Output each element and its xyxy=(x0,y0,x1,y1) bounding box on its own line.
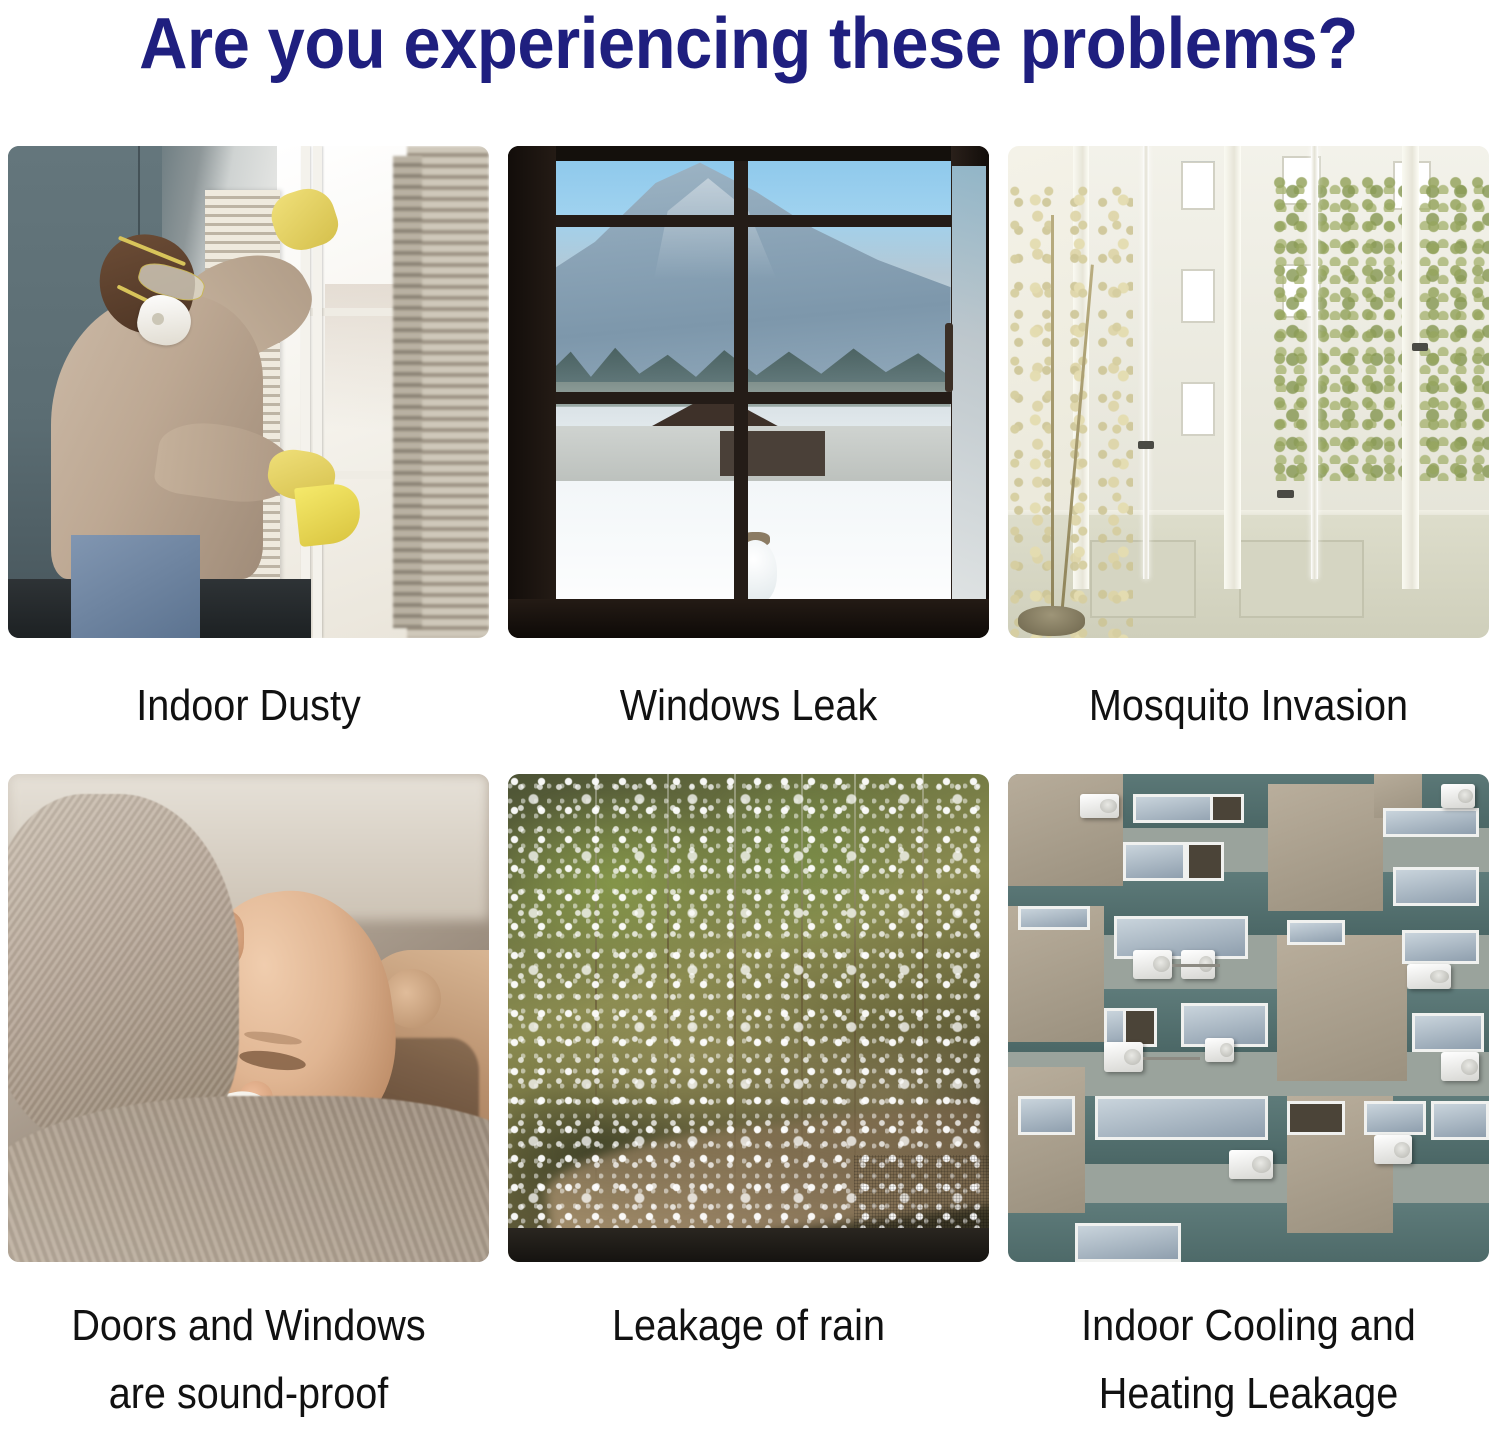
caption-cooling-heating-leakage: Indoor Cooling and Heating Leakage xyxy=(1032,1262,1465,1428)
page-title: Are you experiencing these problems? xyxy=(52,2,1444,86)
photo-apartment-ac-units xyxy=(1008,774,1489,1262)
grid-cell-cooling-heating-leakage[interactable]: Indoor Cooling and Heating Leakage xyxy=(1008,774,1489,1428)
caption-mosquito-invasion: Mosquito Invasion xyxy=(1032,638,1465,740)
caption-windows-leak: Windows Leak xyxy=(532,638,965,740)
problem-grid: Indoor Dusty xyxy=(8,146,1490,1428)
photo-sleeping-baby xyxy=(8,774,489,1262)
photo-indoor-dusty xyxy=(8,146,489,638)
grid-row-1: Indoor Dusty xyxy=(8,146,1490,740)
grid-cell-sound-proof[interactable]: Doors and Windows are sound-proof xyxy=(8,774,489,1428)
grid-cell-windows-leak[interactable]: Windows Leak xyxy=(508,146,989,740)
caption-sound-proof: Doors and Windows are sound-proof xyxy=(32,1262,465,1428)
photo-condensation xyxy=(508,774,989,1262)
grid-cell-indoor-dusty[interactable]: Indoor Dusty xyxy=(8,146,489,740)
grid-cell-mosquito-invasion[interactable]: Mosquito Invasion xyxy=(1008,146,1489,740)
caption-indoor-dusty: Indoor Dusty xyxy=(32,638,465,740)
photo-mosquito-invasion xyxy=(1008,146,1489,638)
photo-windows-leak xyxy=(508,146,989,638)
grid-cell-leakage-of-rain[interactable]: Leakage of rain xyxy=(508,774,989,1428)
grid-row-2: Doors and Windows are sound-proof xyxy=(8,774,1490,1428)
promo-page: Are you experiencing these problems? xyxy=(0,0,1497,1432)
caption-leakage-of-rain: Leakage of rain xyxy=(532,1262,965,1360)
